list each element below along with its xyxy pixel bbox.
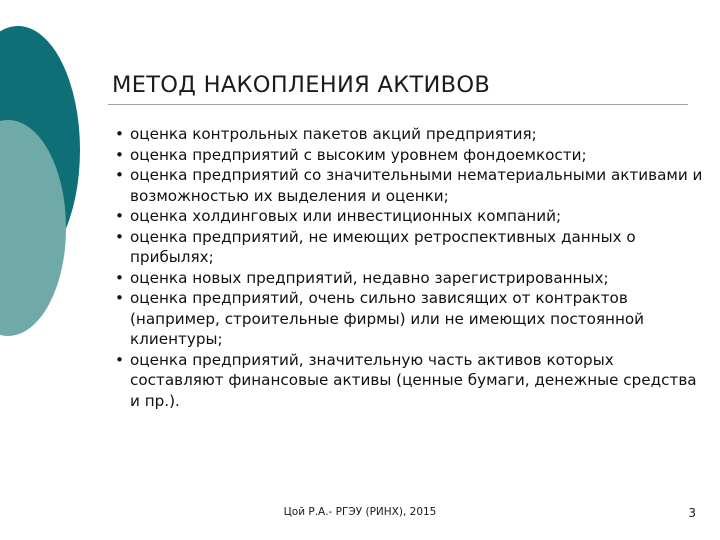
list-item-text: оценка новых предприятий, недавно зареги… [130,269,609,287]
bullet-icon: • [115,165,124,186]
oval-light-teal [0,120,66,336]
list-item-text: оценка предприятий с высоким уровнем фон… [130,146,587,164]
list-item: • оценка предприятий с высоким уровнем ф… [112,145,710,166]
list-item-text: оценка предприятий, не имеющих ретроспек… [130,228,636,267]
bullet-list: • оценка контрольных пакетов акций предп… [112,124,710,411]
list-item: • оценка предприятий со значительными не… [112,165,710,206]
title-block: МЕТОД НАКОПЛЕНИЯ АКТИВОВ [108,72,688,105]
list-item-text: оценка холдинговых или инвестиционных ко… [130,207,561,225]
list-item: • оценка холдинговых или инвестиционных … [112,206,710,227]
page-number: 3 [688,506,696,520]
bullet-icon: • [115,268,124,289]
oval-dark-teal [0,26,80,274]
list-item-text: оценка предприятий со значительными нема… [130,166,702,205]
bullet-icon: • [115,288,124,309]
list-item: • оценка предприятий, значительную часть… [112,350,710,412]
oval-graphics [0,0,120,540]
bullet-icon: • [115,206,124,227]
bullet-icon: • [115,227,124,248]
footer-credit: Цой Р.А.- РГЭУ (РИНХ), 2015 [284,506,437,518]
content-block: • оценка контрольных пакетов акций предп… [112,124,710,411]
decorative-ovals [0,0,120,540]
list-item-text: оценка предприятий, значительную часть а… [130,351,697,410]
list-item: • оценка новых предприятий, недавно заре… [112,268,710,289]
bullet-icon: • [115,124,124,145]
list-item: • оценка предприятий, не имеющих ретросп… [112,227,710,268]
bullet-icon: • [115,145,124,166]
page-title: МЕТОД НАКОПЛЕНИЯ АКТИВОВ [108,72,688,104]
slide: МЕТОД НАКОПЛЕНИЯ АКТИВОВ • оценка контро… [0,0,720,540]
list-item-text: оценка предприятий, очень сильно зависящ… [130,289,644,348]
title-divider [108,104,688,105]
list-item: • оценка контрольных пакетов акций предп… [112,124,710,145]
slide-footer: Цой Р.А.- РГЭУ (РИНХ), 2015 3 [0,506,720,526]
bullet-icon: • [115,350,124,371]
list-item: • оценка предприятий, очень сильно завис… [112,288,710,350]
list-item-text: оценка контрольных пакетов акций предпри… [130,125,537,143]
